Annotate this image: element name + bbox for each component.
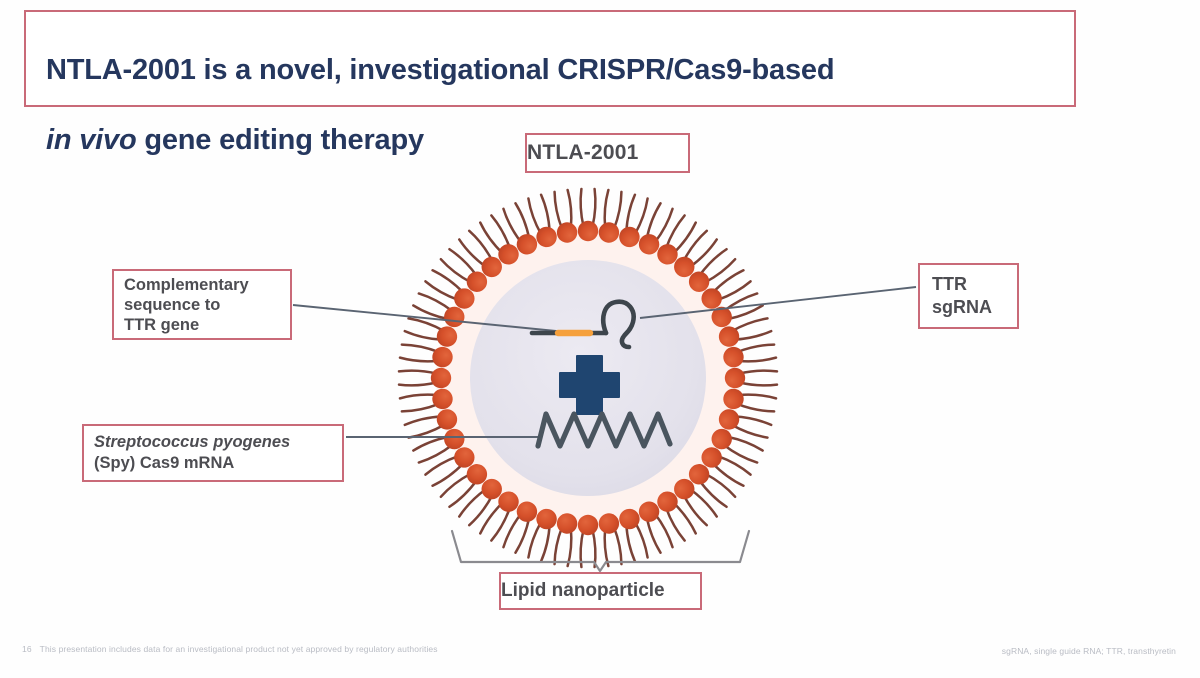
lipid-molecule — [725, 368, 777, 388]
title-line-1: NTLA-2001 is a novel, investigational CR… — [46, 54, 834, 86]
label-lipid-nanoparticle-line-1: Lipid nanoparticle — [501, 580, 700, 602]
lipid-molecule — [716, 407, 772, 441]
lipid-molecule — [438, 247, 491, 297]
lipid-molecule — [412, 426, 468, 466]
label-ttr-sgrna-line-2: sgRNA — [932, 296, 1005, 319]
particle-core — [470, 260, 706, 496]
lipid-nanoparticle-brace — [452, 531, 749, 571]
lipid-molecule — [698, 267, 753, 312]
label-spy-line-2: (Spy) Cas9 mRNA — [94, 453, 332, 474]
lipid-molecule — [597, 189, 625, 244]
lipid-molecule — [457, 228, 507, 281]
lipid-molecule — [500, 202, 540, 258]
label-lipid-nanoparticle[interactable]: Lipid nanoparticle — [499, 572, 702, 610]
plus-symbol — [559, 355, 620, 415]
lipid-molecule — [477, 488, 522, 543]
label-ttr-sgrna[interactable]: TTR sgRNA — [918, 263, 1019, 329]
lipid-molecule — [457, 475, 507, 528]
lipid-molecule — [399, 368, 451, 388]
lipid-molecule — [578, 515, 598, 567]
footer-page-number: 16 — [22, 644, 32, 654]
lipid-molecule — [551, 189, 579, 244]
particle-halo — [436, 226, 740, 530]
slide-title-box: NTLA-2001 is a novel, investigational CR… — [24, 10, 1076, 107]
lipid-molecule — [423, 267, 478, 312]
slide-canvas: NTLA-2001 is a novel, investigational CR… — [0, 0, 1200, 678]
connector-complementary — [293, 305, 566, 332]
lipid-molecule — [399, 341, 454, 369]
lipid-molecule — [722, 387, 777, 415]
lipid-molecule — [399, 387, 454, 415]
label-complementary-line-2: sequence to — [124, 295, 280, 315]
cas9-mrna-zigzag — [538, 414, 670, 446]
label-complementary-line-1: Complementary — [124, 275, 280, 295]
title-line-2-italic: in vivo — [46, 124, 136, 156]
connector-lines — [293, 287, 916, 437]
lipid-molecule — [617, 194, 651, 250]
lipid-molecule — [525, 506, 559, 562]
label-ntla-2001[interactable]: NTLA-2001 — [525, 133, 690, 173]
lipid-molecule — [636, 498, 676, 554]
label-ttr-sgrna-line-1: TTR — [932, 273, 1005, 296]
lipid-molecule — [578, 189, 598, 241]
lipid-molecule — [617, 506, 651, 562]
lipid-molecule — [597, 512, 625, 567]
lipid-molecule — [438, 460, 491, 510]
sgrna-hairpin-glyph — [532, 302, 634, 347]
lipid-molecule — [685, 460, 738, 510]
footer-disclaimer: 16This presentation includes data for an… — [22, 644, 438, 654]
lipid-molecule — [722, 341, 777, 369]
label-complementary-line-3: TTR gene — [124, 315, 280, 335]
lipid-molecule — [423, 443, 478, 488]
lipid-molecule — [653, 488, 698, 543]
lipid-molecule — [653, 213, 698, 268]
lipid-molecule — [670, 475, 720, 528]
lipid-molecule — [685, 247, 738, 297]
lipid-molecule — [716, 315, 772, 349]
lipid-molecule — [500, 498, 540, 554]
lipid-molecule — [412, 290, 468, 330]
connector-ttr-sgrna — [640, 287, 916, 318]
lipid-molecule — [698, 443, 753, 488]
lipid-molecule — [708, 426, 764, 466]
title-line-2-rest: gene editing therapy — [136, 124, 423, 156]
lipid-molecule — [404, 407, 460, 441]
label-spy-line-1: Streptococcus pyogenes — [94, 432, 332, 453]
label-ntla-2001-line-1: NTLA-2001 — [527, 141, 688, 165]
footer-abbreviations: sgRNA, single guide RNA; TTR, transthyre… — [1002, 646, 1176, 656]
lipid-molecule — [636, 202, 676, 258]
label-complementary-sequence[interactable]: Complementary sequence to TTR gene — [112, 269, 292, 340]
lipid-molecule — [477, 213, 522, 268]
lipid-molecule — [708, 290, 764, 330]
lipid-molecule — [525, 194, 559, 250]
label-spy-cas9-mrna[interactable]: Streptococcus pyogenes (Spy) Cas9 mRNA — [82, 424, 344, 482]
lipid-molecule — [404, 315, 460, 349]
lipid-molecule — [551, 512, 579, 567]
lipid-corona — [399, 189, 777, 567]
lipid-molecule — [670, 228, 720, 281]
footer-disclaimer-text: This presentation includes data for an i… — [40, 644, 438, 654]
